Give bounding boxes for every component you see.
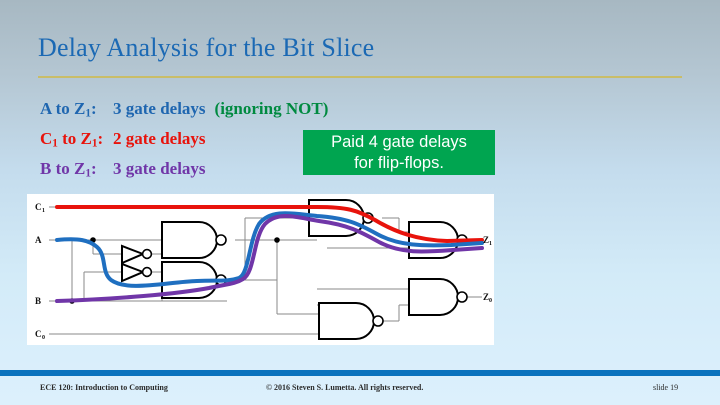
delay-line-a-value: 3 gate delays — [113, 99, 206, 119]
svg-text:0: 0 — [42, 335, 45, 341]
circuit-output-labels: Z1 Z0 — [483, 235, 492, 304]
circuit-input-labels: C1 A B C0 — [35, 202, 45, 341]
svg-text:A: A — [35, 235, 42, 245]
svg-text:1: 1 — [42, 208, 45, 214]
svg-text:0: 0 — [489, 298, 492, 304]
delay-line-b-value: 3 gate delays — [113, 159, 206, 179]
bit-slice-circuit-diagram: .wire{stroke:#8a8a8a;stroke-width:1;fill… — [27, 194, 494, 345]
footer: ECE 120: Introduction to Computing © 201… — [0, 383, 720, 397]
callout-line-1: Paid 4 gate delays — [303, 132, 495, 153]
footer-copyright: © 2016 Steven S. Lumetta. All rights res… — [266, 383, 423, 392]
inverter-gate-2 — [122, 264, 151, 281]
svg-text:B: B — [35, 296, 41, 306]
page-title: Delay Analysis for the Bit Slice — [38, 33, 374, 63]
footer-accent-bar — [0, 370, 720, 376]
delay-line-b-label: B to Z1: — [40, 159, 113, 179]
title-underline-rule — [38, 76, 682, 78]
svg-text:C: C — [35, 202, 42, 212]
footer-slide-number: slide 19 — [653, 383, 678, 392]
nand-gate-1 — [162, 222, 226, 258]
delay-line-a-label: A to Z1: — [40, 99, 113, 119]
svg-text:C: C — [35, 329, 42, 339]
slide-root: Delay Analysis for the Bit Slice A to Z1… — [0, 0, 720, 405]
nand-gate-4 — [319, 303, 383, 339]
nand-gate-6 — [409, 279, 467, 315]
delay-line-a-note: (ignoring NOT) — [215, 99, 329, 119]
inverter-gate-1 — [122, 246, 151, 263]
flip-flop-callout-box: Paid 4 gate delays for flip-flops. — [303, 130, 495, 175]
delay-line-c1-label: C1 to Z1: — [40, 129, 113, 149]
svg-text:1: 1 — [489, 241, 492, 247]
footer-course: ECE 120: Introduction to Computing — [40, 383, 168, 392]
junction-dot-mid — [274, 237, 280, 243]
delay-line-c1-value: 2 gate delays — [113, 129, 206, 149]
delay-line-a: A to Z1: 3 gate delays (ignoring NOT) — [40, 99, 560, 129]
callout-line-2: for flip-flops. — [303, 153, 495, 174]
